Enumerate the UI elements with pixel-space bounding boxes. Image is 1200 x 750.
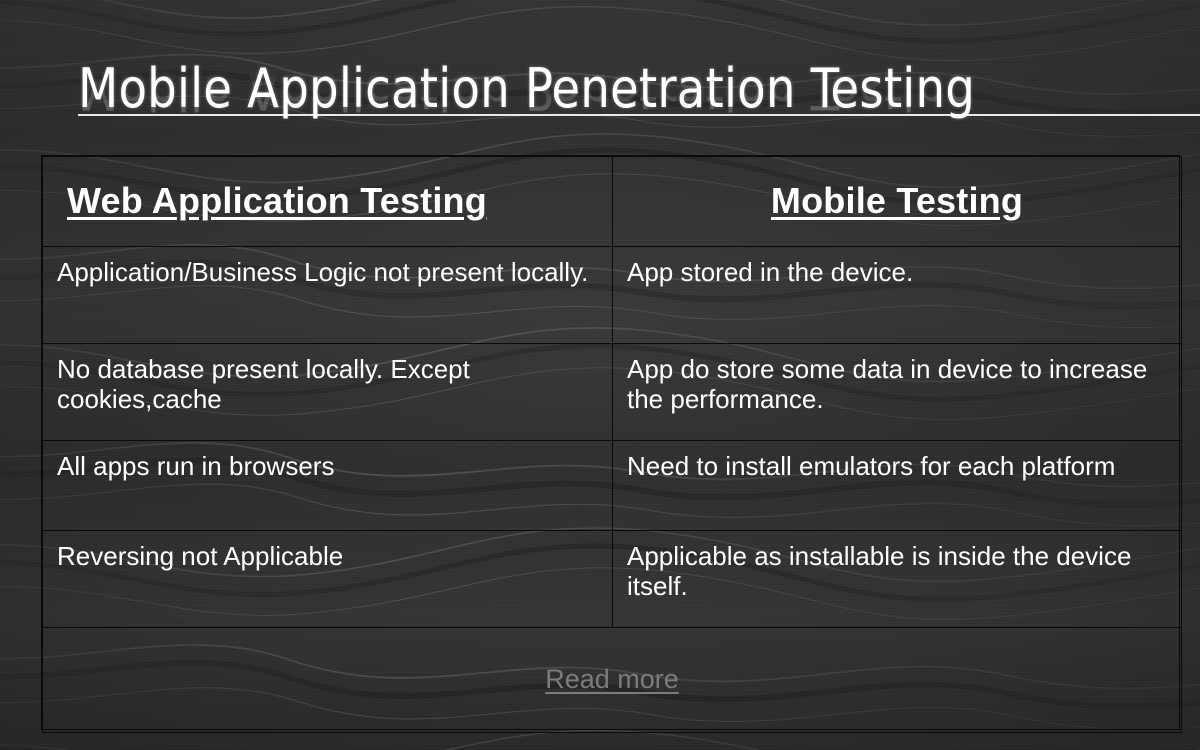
cell-web-3: All apps run in browsers xyxy=(43,441,613,531)
table-row: Reversing not Applicable Applicable as i… xyxy=(43,531,1182,628)
table-header-cell-web: Web Application Testing xyxy=(43,157,613,247)
cell-mobile-4: Applicable as installable is inside the … xyxy=(613,531,1182,628)
cell-mobile-1: App stored in the device. xyxy=(613,247,1182,344)
column-header-mobile-testing: Mobile Testing xyxy=(771,180,1023,221)
table-row: No database present locally. Except cook… xyxy=(43,344,1182,441)
cell-web-2: No database present locally. Except cook… xyxy=(43,344,613,441)
column-header-web-application-testing: Web Application Testing xyxy=(57,180,487,221)
page-title: Mobile Application Penetration Testing xyxy=(78,58,975,120)
table-footer-row: Read more xyxy=(43,628,1182,733)
table-header-cell-mobile: Mobile Testing xyxy=(613,157,1182,247)
read-more-link[interactable]: Read more xyxy=(545,664,679,695)
table-row: Application/Business Logic not present l… xyxy=(43,247,1182,344)
cell-web-1: Application/Business Logic not present l… xyxy=(43,247,613,344)
comparison-table: Web Application Testing Mobile Testing A… xyxy=(41,155,1180,730)
cell-mobile-2: App do store some data in device to incr… xyxy=(613,344,1182,441)
table-footer-cell: Read more xyxy=(43,628,1182,733)
slide-canvas: Mobile Application Penetration Testing M… xyxy=(0,0,1200,750)
cell-web-4: Reversing not Applicable xyxy=(43,531,613,628)
cell-mobile-3: Need to install emulators for each platf… xyxy=(613,441,1182,531)
table-row: All apps run in browsers Need to install… xyxy=(43,441,1182,531)
table-header-row: Web Application Testing Mobile Testing xyxy=(43,157,1182,247)
